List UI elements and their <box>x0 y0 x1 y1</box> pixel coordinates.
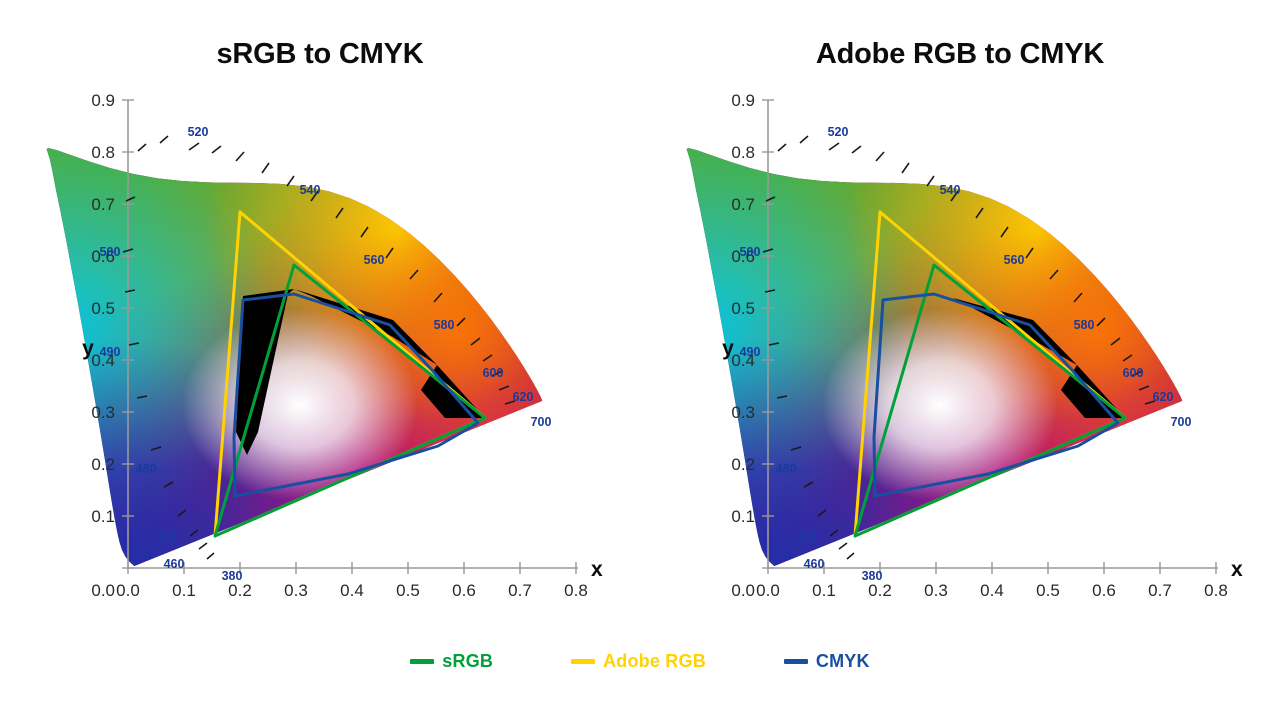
svg-text:0.0: 0.0 <box>116 581 140 600</box>
legend-item-srgb: sRGB <box>410 651 493 672</box>
svg-text:0.0: 0.0 <box>731 581 755 600</box>
svg-text:0.4: 0.4 <box>980 581 1004 600</box>
wavelength-label-470: 470 <box>796 530 817 544</box>
legend-label-srgb: sRGB <box>442 651 493 672</box>
wavelength-label-480: 480 <box>136 462 157 476</box>
wavelength-label-540: 540 <box>940 183 961 197</box>
svg-text:0.7: 0.7 <box>91 195 115 214</box>
svg-text:0.2: 0.2 <box>91 455 115 474</box>
svg-text:0.5: 0.5 <box>731 299 755 318</box>
y-axis-label-right: y <box>722 337 734 360</box>
svg-text:0.5: 0.5 <box>1036 581 1060 600</box>
y-axis-label-left: y <box>82 337 94 360</box>
legend-swatch-cmyk <box>784 659 808 664</box>
x-axis-label-left: x <box>591 558 603 581</box>
wavelength-label-470: 470 <box>156 530 177 544</box>
wavelength-label-520: 520 <box>828 125 849 139</box>
wavelength-label-580: 580 <box>1074 318 1095 332</box>
wavelength-label-620: 620 <box>513 390 534 404</box>
svg-text:0.3: 0.3 <box>924 581 948 600</box>
svg-text:0.1: 0.1 <box>172 581 196 600</box>
svg-text:0.8: 0.8 <box>91 143 115 162</box>
svg-text:0.8: 0.8 <box>1204 581 1228 600</box>
svg-text:0.5: 0.5 <box>91 299 115 318</box>
x-tick-labels-right: 0.0 0.1 0.2 0.3 0.4 0.5 0.6 0.7 0.8 <box>756 581 1228 600</box>
wavelength-label-540: 540 <box>300 183 321 197</box>
x-axis-label-right: x <box>1231 558 1243 581</box>
svg-text:0.0: 0.0 <box>91 581 115 600</box>
svg-text:0.6: 0.6 <box>452 581 476 600</box>
svg-text:0.7: 0.7 <box>731 195 755 214</box>
wavelength-label-500: 500 <box>740 245 761 259</box>
wavelength-label-560: 560 <box>1004 253 1025 267</box>
wavelength-label-520: 520 <box>188 125 209 139</box>
legend-label-adobergb: Adobe RGB <box>603 651 706 672</box>
svg-text:0.4: 0.4 <box>340 581 364 600</box>
chart-panel-srgb: sRGB to CMYK <box>0 0 640 640</box>
wavelength-label-620: 620 <box>1153 390 1174 404</box>
svg-text:0.6: 0.6 <box>1092 581 1116 600</box>
svg-text:0.1: 0.1 <box>91 507 115 526</box>
chart-legend: sRGB Adobe RGB CMYK <box>0 636 1280 686</box>
svg-text:0.3: 0.3 <box>91 403 115 422</box>
wavelength-label-480: 480 <box>776 462 797 476</box>
svg-text:0.8: 0.8 <box>731 143 755 162</box>
chromaticity-plot-right: 0.0 0.1 0.2 0.3 0.4 0.5 0.6 0.7 0.8 0.9 … <box>640 0 1280 640</box>
chromaticity-plot-left: 0.0 0.1 0.2 0.3 0.4 0.5 0.6 0.7 0.8 0.9 … <box>0 0 640 640</box>
wavelength-label-460: 460 <box>804 557 825 571</box>
wavelength-label-380: 380 <box>862 569 883 583</box>
wavelength-label-490: 490 <box>740 345 761 359</box>
svg-text:0.7: 0.7 <box>1148 581 1172 600</box>
svg-text:0.7: 0.7 <box>508 581 532 600</box>
wavelength-label-380: 380 <box>222 569 243 583</box>
wavelength-label-580: 580 <box>434 318 455 332</box>
legend-swatch-adobergb <box>571 659 595 664</box>
wavelength-label-600: 600 <box>483 366 504 380</box>
svg-text:0.2: 0.2 <box>228 581 252 600</box>
svg-text:0.9: 0.9 <box>731 91 755 110</box>
svg-text:0.1: 0.1 <box>812 581 836 600</box>
legend-item-adobergb: Adobe RGB <box>571 651 706 672</box>
wavelength-label-560: 560 <box>364 253 385 267</box>
page-root: sRGB to CMYK <box>0 0 1280 701</box>
legend-label-cmyk: CMYK <box>816 651 870 672</box>
wavelength-label-600: 600 <box>1123 366 1144 380</box>
chart-panel-adobergb: Adobe RGB to CMYK <box>640 0 1280 640</box>
wavelength-label-490: 490 <box>100 345 121 359</box>
svg-text:0.5: 0.5 <box>396 581 420 600</box>
svg-text:0.2: 0.2 <box>868 581 892 600</box>
svg-text:0.3: 0.3 <box>731 403 755 422</box>
wavelength-label-500: 500 <box>100 245 121 259</box>
wavelength-label-700: 700 <box>531 415 552 429</box>
svg-text:0.2: 0.2 <box>731 455 755 474</box>
wavelength-label-700: 700 <box>1171 415 1192 429</box>
x-tick-labels-left: 0.0 0.1 0.2 0.3 0.4 0.5 0.6 0.7 0.8 <box>116 581 588 600</box>
legend-item-cmyk: CMYK <box>784 651 870 672</box>
legend-swatch-srgb <box>410 659 434 664</box>
svg-text:0.8: 0.8 <box>564 581 588 600</box>
svg-text:0.1: 0.1 <box>731 507 755 526</box>
svg-text:0.0: 0.0 <box>756 581 780 600</box>
wavelength-label-460: 460 <box>164 557 185 571</box>
svg-text:0.9: 0.9 <box>91 91 115 110</box>
svg-text:0.3: 0.3 <box>284 581 308 600</box>
